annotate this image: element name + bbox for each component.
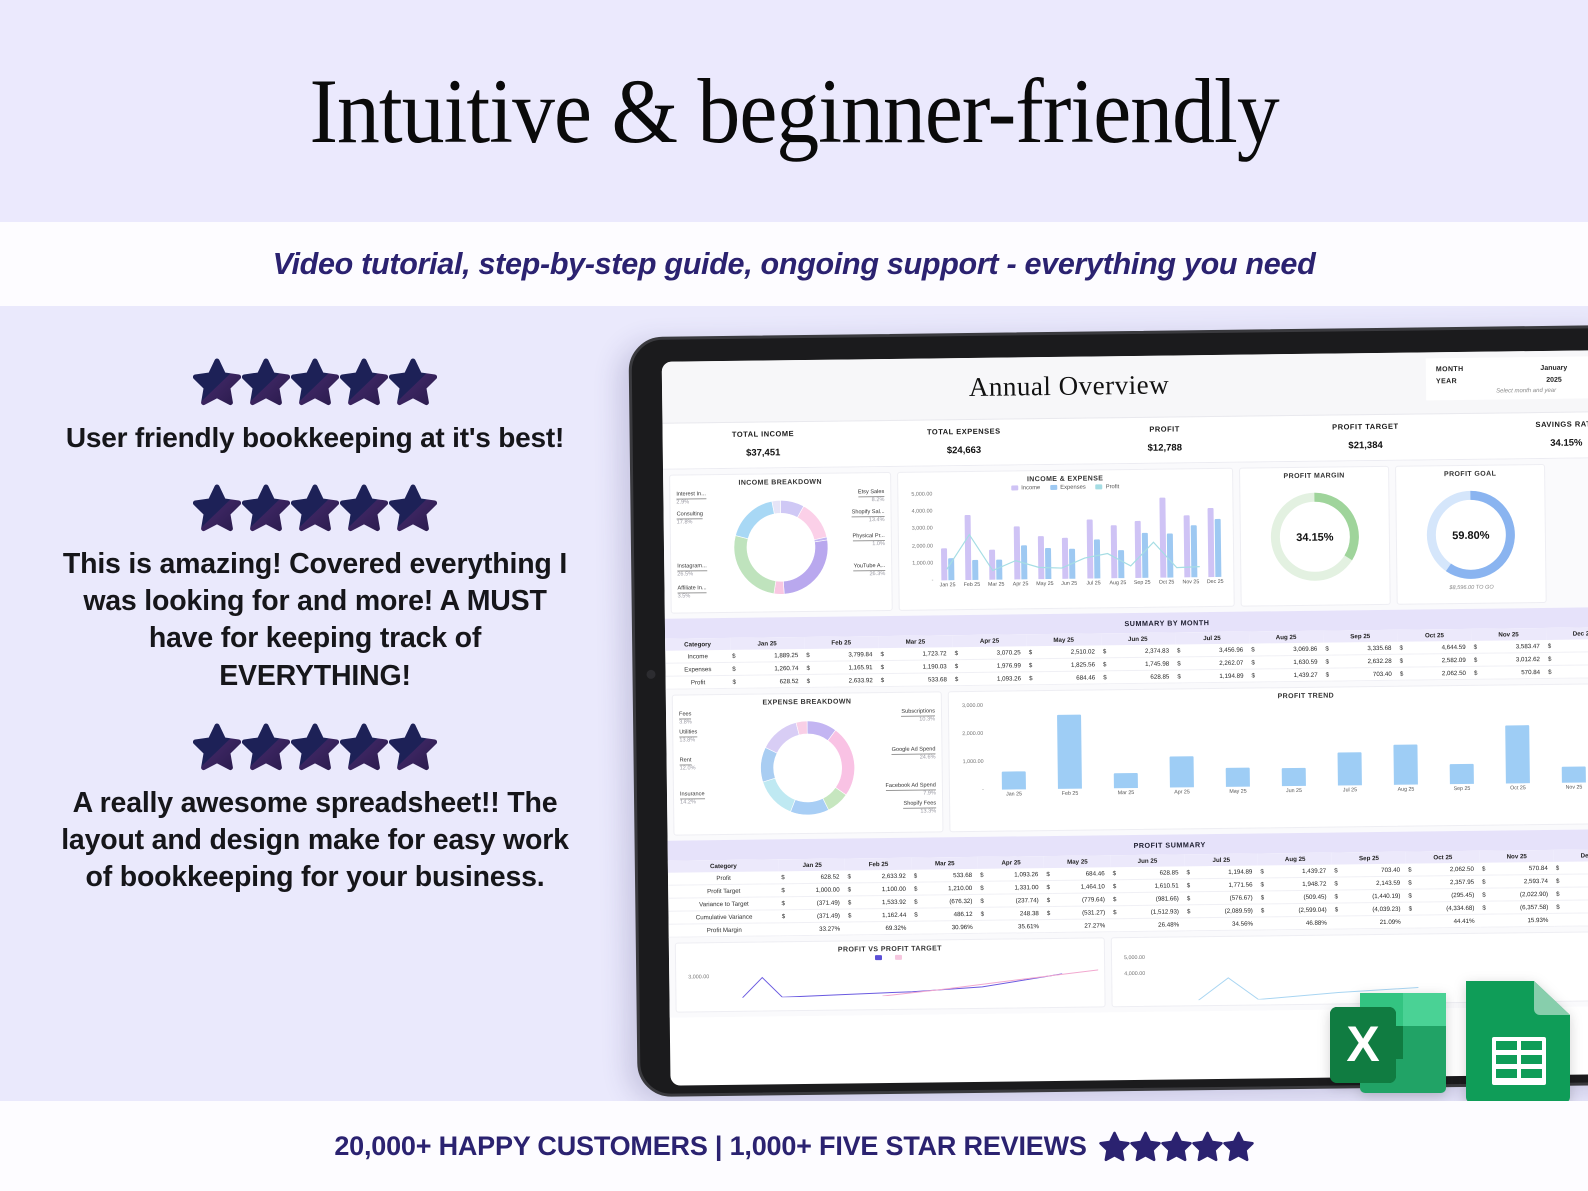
cell-value: 2,633.92	[812, 674, 879, 688]
currency-symbol: $	[1111, 880, 1119, 893]
currency-symbol: $	[845, 870, 853, 883]
star-rating-2	[50, 484, 580, 532]
row-category: Expenses	[665, 662, 730, 676]
cell-value: 1,439.27	[1266, 865, 1333, 878]
currency-symbol: $	[780, 910, 788, 923]
currency-symbol: $	[804, 661, 812, 674]
bar-group	[1489, 699, 1546, 784]
cell-value: 2,582.09	[1405, 653, 1472, 667]
currency-symbol: $	[912, 895, 920, 908]
footer-text: 20,000+ HAPPY CUSTOMERS | 1,000+ FIVE ST…	[334, 1131, 1086, 1162]
x-tick-label: Mar 25	[1098, 788, 1154, 797]
bar-profit	[1170, 757, 1194, 788]
cell-value: 2,143.59	[1340, 876, 1407, 890]
star-icon	[340, 358, 388, 406]
star-icon	[193, 484, 241, 532]
profit-trend-chart: 1,000.002,000.003,000.00-Jan 25Feb 25Mar…	[955, 698, 1588, 799]
currency-symbol: $	[1111, 867, 1119, 880]
cell-value: 2,593.74	[1487, 874, 1554, 888]
bar-group	[1321, 701, 1378, 786]
cell-value: 33.27%	[787, 922, 846, 936]
cell-value: 1,948.72	[1266, 877, 1333, 891]
column-header: Aug 25	[1249, 631, 1323, 644]
footer-star-rating	[1099, 1131, 1254, 1162]
column-header: Sep 25	[1323, 630, 1397, 643]
dashboard-header: Annual Overview MONTH January ▾ YEAR 202…	[662, 349, 1588, 423]
month-label: MONTH	[1436, 365, 1506, 373]
column-header: Oct 25	[1406, 851, 1480, 864]
donut-chart	[732, 499, 829, 596]
cell-value: 2,633.92	[853, 870, 912, 883]
column-header: Mar 25	[912, 857, 978, 870]
currency-symbol: $	[1480, 863, 1488, 876]
currency-symbol: $	[978, 894, 986, 907]
cell-value: 570.84	[1487, 862, 1554, 875]
currency-symbol: $	[804, 649, 812, 662]
currency-symbol: $	[1027, 672, 1035, 685]
cell-value: (676.32)	[919, 894, 978, 908]
subtitle-bar: Video tutorial, step-by-step guide, ongo…	[0, 222, 1588, 306]
star-icon	[291, 484, 339, 532]
kpi-label: TOTAL INCOME	[663, 428, 864, 439]
star-icon	[1223, 1131, 1254, 1162]
cell-value: 533.68	[919, 869, 978, 882]
cell-value: (237.74)	[986, 894, 1045, 908]
cell-value: 570.84	[1479, 665, 1546, 679]
income-breakdown-title: INCOME BREAKDOWN	[676, 478, 884, 488]
cell-value: 628.52	[787, 871, 846, 884]
bar-group	[1041, 704, 1098, 789]
cell-value: 1,210.00	[919, 881, 978, 895]
currency-symbol: $	[1324, 668, 1332, 681]
column-header: Jun 25	[1101, 632, 1175, 645]
currency-symbol: $	[730, 650, 738, 663]
currency-symbol: $	[912, 908, 920, 921]
currency-symbol: $	[1111, 906, 1119, 919]
cell-value: (576.67)	[1192, 891, 1259, 905]
legend-item-income: Income	[1011, 485, 1040, 491]
file-format-icons: X	[1330, 975, 1578, 1101]
cell-value: 1,439.27	[1257, 668, 1324, 682]
cell-value: 15.38%	[1562, 912, 1588, 926]
currency-symbol: $	[730, 662, 738, 675]
currency-symbol: $	[1101, 658, 1109, 671]
testimonials-column: User friendly bookkeeping at it's best! …	[0, 306, 630, 914]
kpi-4: SAVINGS RATE34.15%	[1466, 418, 1588, 449]
currency-symbol: $	[1554, 862, 1562, 875]
profit-margin-gauge: 34.15%	[1246, 481, 1383, 593]
currency-symbol: $	[878, 648, 886, 661]
cell-value: (2,239.13)	[1561, 886, 1588, 900]
footer-banner: 20,000+ HAPPY CUSTOMERS | 1,000+ FIVE ST…	[0, 1101, 1588, 1191]
currency-symbol: $	[1175, 670, 1183, 683]
currency-symbol: $	[1249, 669, 1257, 682]
currency-symbol	[1407, 915, 1415, 928]
donut-label: Insurance14.2%	[680, 791, 705, 806]
cell-value: 3,456.96	[1182, 644, 1249, 657]
month-value[interactable]: January	[1506, 364, 1588, 372]
excel-icon[interactable]: X	[1330, 985, 1450, 1101]
cell-value: (2,089.59)	[1192, 904, 1259, 918]
bar-group	[985, 705, 1042, 790]
currency-symbol: $	[846, 909, 854, 922]
expense-breakdown-donut: Subscriptions10.3%Google Ad Spend24.6%Fa…	[679, 706, 936, 829]
bar-profit	[1057, 715, 1082, 789]
x-tick-label: Sep 25	[1130, 578, 1154, 586]
currency-symbol: $	[1249, 643, 1257, 656]
column-header: Apr 25	[978, 856, 1044, 869]
cell-value: 2,262.07	[1183, 656, 1250, 670]
cell-value: 684.46	[1034, 671, 1101, 685]
currency-symbol: $	[1175, 644, 1183, 657]
cell-value: 2,357.95	[1414, 875, 1481, 889]
cell-value: 703.40	[1340, 864, 1407, 877]
cell-value: 1,745.98	[1108, 657, 1175, 671]
year-value[interactable]: 2025	[1506, 376, 1588, 384]
donut-chart	[759, 719, 856, 816]
charts-row-1: INCOME BREAKDOWN Etsy Sales8.2%Shopify S…	[663, 457, 1588, 618]
profit-margin-title: PROFIT MARGIN	[1246, 472, 1382, 481]
cell-value: 27.27%	[1052, 919, 1111, 933]
kpi-value: $37,451	[663, 446, 864, 459]
column-header: Oct 25	[1397, 629, 1471, 642]
bar-profit	[1562, 767, 1586, 783]
kpi-value: 34.15%	[1466, 436, 1588, 449]
profit-trend-card: PROFIT TREND 1,000.002,000.003,000.00-Ja…	[948, 683, 1588, 833]
currency-symbol: $	[1546, 640, 1554, 653]
column-header: Dec 25	[1546, 627, 1588, 640]
bar-profit	[1002, 772, 1026, 790]
cell-value: (2,022.90)	[1488, 887, 1555, 901]
star-icon	[389, 723, 437, 771]
column-header: May 25	[1027, 633, 1101, 646]
x-tick-label: Jun 25	[1057, 579, 1081, 587]
cell-value: 3,799.84	[812, 648, 879, 661]
star-icon	[242, 723, 290, 771]
legend-swatch	[1050, 485, 1057, 490]
star-icon	[389, 484, 437, 532]
month-year-selector[interactable]: MONTH January ▾ YEAR 2025 ▾ Select month…	[1426, 356, 1588, 400]
star-icon	[1130, 1131, 1161, 1162]
currency-symbol: $	[1406, 864, 1414, 877]
cell-value: 1,162.44	[853, 908, 912, 922]
x-tick-label: Jul 25	[1322, 785, 1378, 794]
currency-symbol: $	[779, 871, 787, 884]
svg-text:5,000.00: 5,000.00	[1124, 955, 1145, 961]
kpi-3: PROFIT TARGET$21,384	[1265, 421, 1466, 452]
cell-value: 34.56%	[1193, 917, 1260, 931]
star-icon	[193, 358, 241, 406]
income-breakdown-card: INCOME BREAKDOWN Etsy Sales8.2%Shopify S…	[669, 472, 893, 614]
gauge-ring: 59.80%	[1424, 488, 1517, 581]
svg-text:X: X	[1346, 1016, 1379, 1072]
column-header: May 25	[1044, 855, 1110, 868]
cell-value: 2,510.02	[1034, 645, 1101, 658]
cell-value: 2,853.12	[1561, 873, 1588, 887]
currency-symbol	[780, 923, 788, 936]
currency-symbol: $	[1480, 875, 1488, 888]
column-header: Jan 25	[779, 859, 845, 872]
x-tick-label: May 25	[1033, 579, 1057, 587]
currency-symbol: $	[1258, 878, 1266, 891]
currency-symbol	[1480, 914, 1488, 927]
star-icon	[193, 723, 241, 771]
cell-value: (531.27)	[1052, 906, 1111, 920]
column-header: Jun 25	[1110, 854, 1184, 867]
cell-value: 2,374.83	[1108, 644, 1175, 657]
currency-symbol	[1111, 919, 1119, 932]
cell-value: 3,335.68	[1331, 642, 1398, 655]
kpi-value: $12,788	[1064, 441, 1265, 454]
x-tick-label: Feb 25	[960, 580, 984, 588]
x-tick-label: Aug 25	[1378, 784, 1434, 793]
currency-symbol: $	[1185, 905, 1193, 918]
cell-value: 1,630.59	[1257, 655, 1324, 669]
kpi-1: TOTAL EXPENSES$24,663	[863, 426, 1064, 457]
bar-profit	[1338, 752, 1362, 786]
profit-goal-card: PROFIT GOAL 59.80%$8,596.00 TO GO	[1395, 464, 1547, 605]
donut-label: Fees3.8%	[679, 711, 692, 726]
cell-value: (2,599.04)	[1266, 903, 1333, 917]
currency-symbol: $	[1480, 888, 1488, 901]
gauge-note: $8,596.00 TO GO	[1403, 584, 1539, 593]
cell-value: (371.49)	[787, 896, 846, 910]
x-tick-label: Jun 25	[1266, 786, 1322, 795]
cell-value: 2,062.50	[1413, 863, 1480, 876]
cell-value: 1,889.25	[738, 649, 805, 662]
main-content: User friendly bookkeeping at it's best! …	[0, 306, 1588, 1101]
currency-symbol: $	[1546, 665, 1554, 678]
currency-symbol: $	[805, 674, 813, 687]
donut-label: YouTube A...26.3%	[854, 563, 886, 578]
year-label: YEAR	[1436, 377, 1506, 385]
currency-symbol: $	[730, 675, 738, 688]
column-header: Mar 25	[878, 635, 952, 648]
selector-note: Select month and year	[1436, 387, 1588, 395]
bar-profit	[1393, 744, 1417, 785]
cell-value: 1,194.89	[1183, 669, 1250, 683]
legend-swatch	[1011, 485, 1018, 490]
legend-swatch-target	[895, 955, 902, 960]
page-title: Intuitive & beginner-friendly	[309, 58, 1278, 164]
column-header: Aug 25	[1258, 853, 1332, 866]
cell-value: 613.99	[1561, 861, 1588, 874]
currency-symbol: $	[1554, 887, 1562, 900]
currency-symbol: $	[953, 673, 961, 686]
currency-symbol: $	[953, 647, 961, 660]
cell-value: 486.12	[920, 907, 979, 921]
bar-group	[1153, 703, 1210, 788]
cell-value: 2,632.28	[1331, 654, 1398, 668]
income-expense-chart: 1,000.002,000.003,000.004,000.005,000.00…	[904, 491, 1227, 589]
kpi-value: $21,384	[1265, 439, 1466, 452]
bar-group	[1209, 702, 1266, 787]
x-tick-label: Mar 25	[984, 580, 1008, 588]
cell-value: 3,378.38	[1553, 652, 1588, 666]
cell-value: (509.45)	[1266, 890, 1333, 904]
x-tick-label: Apr 25	[1154, 787, 1210, 796]
currency-symbol: $	[1045, 907, 1053, 920]
donut-label: Consulting17.8%	[677, 511, 704, 526]
x-tick-label: May 25	[1210, 786, 1266, 795]
profit-goal-title: PROFIT GOAL	[1402, 470, 1538, 479]
svg-text:59.80%: 59.80%	[1452, 530, 1490, 542]
cell-value: 628.85	[1118, 866, 1185, 879]
cell-value: (295.45)	[1414, 888, 1481, 902]
cell-value: 684.46	[1052, 867, 1111, 880]
legend-swatch	[1096, 484, 1103, 489]
currency-symbol: $	[1406, 902, 1414, 915]
star-icon	[242, 484, 290, 532]
kpi-0: TOTAL INCOME$37,451	[663, 428, 864, 459]
cell-value: 46.88%	[1266, 916, 1333, 930]
profit-summary-table: CategoryJan 25Feb 25Mar 25Apr 25May 25Ju…	[668, 848, 1588, 937]
cell-value: 2,062.50	[1405, 666, 1472, 680]
currency-symbol: $	[879, 661, 887, 674]
cell-value: 703.40	[1331, 667, 1398, 681]
cell-value: 3,012.62	[1479, 652, 1546, 666]
income-expense-card: INCOME & EXPENSE IncomeExpensesProfit 1,…	[897, 468, 1235, 611]
star-icon	[340, 484, 388, 532]
cell-value: 3,069.86	[1257, 643, 1324, 656]
bar-group	[1545, 698, 1588, 783]
gauge-ring: 34.15%	[1268, 490, 1361, 583]
currency-symbol: $	[1406, 876, 1414, 889]
svg-text:4,000.00: 4,000.00	[1124, 971, 1145, 977]
currency-symbol: $	[1332, 890, 1340, 903]
bar-profit	[1505, 725, 1530, 783]
cell-value: 1,093.26	[960, 672, 1027, 686]
currency-symbol: $	[779, 897, 787, 910]
star-rating-3	[50, 723, 580, 771]
bar-group	[1377, 700, 1434, 785]
cell-value: 15.93%	[1488, 913, 1555, 927]
cell-value: 1,165.91	[812, 661, 879, 675]
star-icon	[389, 358, 437, 406]
currency-symbol: $	[1044, 868, 1052, 881]
donut-label: Instagram...26.5%	[677, 563, 707, 578]
currency-symbol: $	[1045, 894, 1053, 907]
cell-value: 1,976.99	[960, 659, 1027, 673]
currency-symbol: $	[1044, 881, 1052, 894]
cell-value: 1,825.56	[1034, 658, 1101, 672]
currency-symbol: $	[1472, 641, 1480, 654]
currency-symbol: $	[1332, 864, 1340, 877]
currency-symbol	[1259, 917, 1267, 930]
donut-label: Utilities13.8%	[679, 729, 697, 744]
testimonial-3: A really awesome spreadsheet!! The layou…	[50, 723, 580, 896]
bar-profit	[1114, 773, 1138, 788]
donut-label: Subscriptions10.3%	[901, 708, 935, 723]
star-icon	[291, 723, 339, 771]
currency-symbol: $	[846, 883, 854, 896]
x-tick-label: Jan 25	[986, 789, 1042, 798]
bar-expenses	[1215, 519, 1222, 577]
cell-value: 1,464.10	[1052, 880, 1111, 894]
star-icon	[1099, 1131, 1130, 1162]
donut-label: Shopify Sal...13.4%	[852, 509, 885, 524]
currency-symbol	[1333, 916, 1341, 929]
currency-symbol: $	[1480, 901, 1488, 914]
cell-value: 44.41%	[1414, 914, 1481, 928]
donut-label: Physical Pr...1.0%	[852, 533, 885, 548]
currency-symbol	[1554, 913, 1562, 926]
bar-group	[1097, 704, 1154, 789]
cell-value: 1,000.00	[787, 883, 846, 897]
currency-symbol: $	[1472, 653, 1480, 666]
currency-symbol: $	[1101, 671, 1109, 684]
x-tick-label: Jul 25	[1081, 578, 1105, 586]
income-breakdown-donut: Etsy Sales8.2%Shopify Sal...13.4%Physica…	[676, 487, 885, 608]
testimonial-text-2: This is amazing! Covered everything I wa…	[50, 546, 580, 694]
row-category: Income	[665, 650, 730, 663]
profit-vs-target-sparkline: 3,000.00	[682, 959, 1098, 998]
google-sheets-icon[interactable]	[1458, 975, 1578, 1101]
cell-value: (8,596.71)	[1562, 899, 1588, 913]
column-header: Nov 25	[1471, 628, 1545, 641]
currency-symbol: $	[1332, 877, 1340, 890]
donut-label: Affiliate In...3.5%	[677, 585, 706, 600]
expense-breakdown-card: EXPENSE BREAKDOWN Subscriptions10.3%Goog…	[672, 691, 944, 835]
cell-value: (4,039.23)	[1340, 902, 1407, 916]
cell-value: 248.38	[986, 907, 1045, 921]
profit-vs-target-card: PROFIT VS PROFIT TARGET 3,000.00	[675, 937, 1106, 1012]
donut-label: Google Ad Spend24.6%	[892, 746, 936, 762]
currency-symbol: $	[978, 881, 986, 894]
currency-symbol	[912, 921, 920, 934]
currency-symbol: $	[912, 870, 920, 883]
x-tick-label: Oct 25	[1154, 577, 1178, 585]
star-icon	[1192, 1131, 1223, 1162]
currency-symbol: $	[1323, 655, 1331, 668]
subtitle-text: Video tutorial, step-by-step guide, ongo…	[273, 247, 1316, 282]
donut-label: Etsy Sales8.2%	[858, 489, 885, 504]
cell-value: 1,093.26	[985, 868, 1044, 881]
star-icon	[242, 358, 290, 406]
currency-symbol: $	[879, 674, 887, 687]
currency-symbol: $	[1259, 904, 1267, 917]
currency-symbol: $	[912, 882, 920, 895]
currency-symbol: $	[1111, 893, 1119, 906]
currency-symbol: $	[1406, 889, 1414, 902]
column-header: Apr 25	[952, 634, 1026, 647]
bar-profit	[1226, 767, 1250, 786]
y-tick-label: 3,000.00	[688, 974, 709, 980]
currency-symbol	[846, 922, 854, 935]
svg-text:34.15%: 34.15%	[1296, 532, 1334, 544]
x-tick-label: Feb 25	[1042, 788, 1098, 797]
profit-goal-gauge: 59.80%$8,596.00 TO GO	[1402, 479, 1539, 591]
star-rating-1	[50, 358, 580, 406]
cell-value: 30.96%	[920, 920, 979, 934]
cell-value: 628.85	[1109, 670, 1176, 684]
cell-value: 4,644.59	[1405, 641, 1472, 654]
column-header: Feb 25	[804, 636, 878, 649]
currency-symbol: $	[1259, 891, 1267, 904]
cell-value: (371.49)	[787, 909, 846, 923]
kpi-label: TOTAL EXPENSES	[863, 426, 1064, 437]
currency-symbol: $	[1175, 657, 1183, 670]
cell-value: (6,357.58)	[1488, 900, 1555, 914]
testimonial-text-3: A really awesome spreadsheet!! The layou…	[50, 785, 580, 896]
column-header: Jul 25	[1184, 853, 1258, 866]
x-tick-label: Nov 25	[1179, 577, 1203, 585]
bar-profit	[1450, 764, 1474, 784]
row-category: Profit	[666, 675, 731, 689]
hero-banner: Intuitive & beginner-friendly	[0, 0, 1588, 222]
currency-symbol	[1045, 920, 1053, 933]
cell-value: 533.68	[886, 673, 953, 687]
